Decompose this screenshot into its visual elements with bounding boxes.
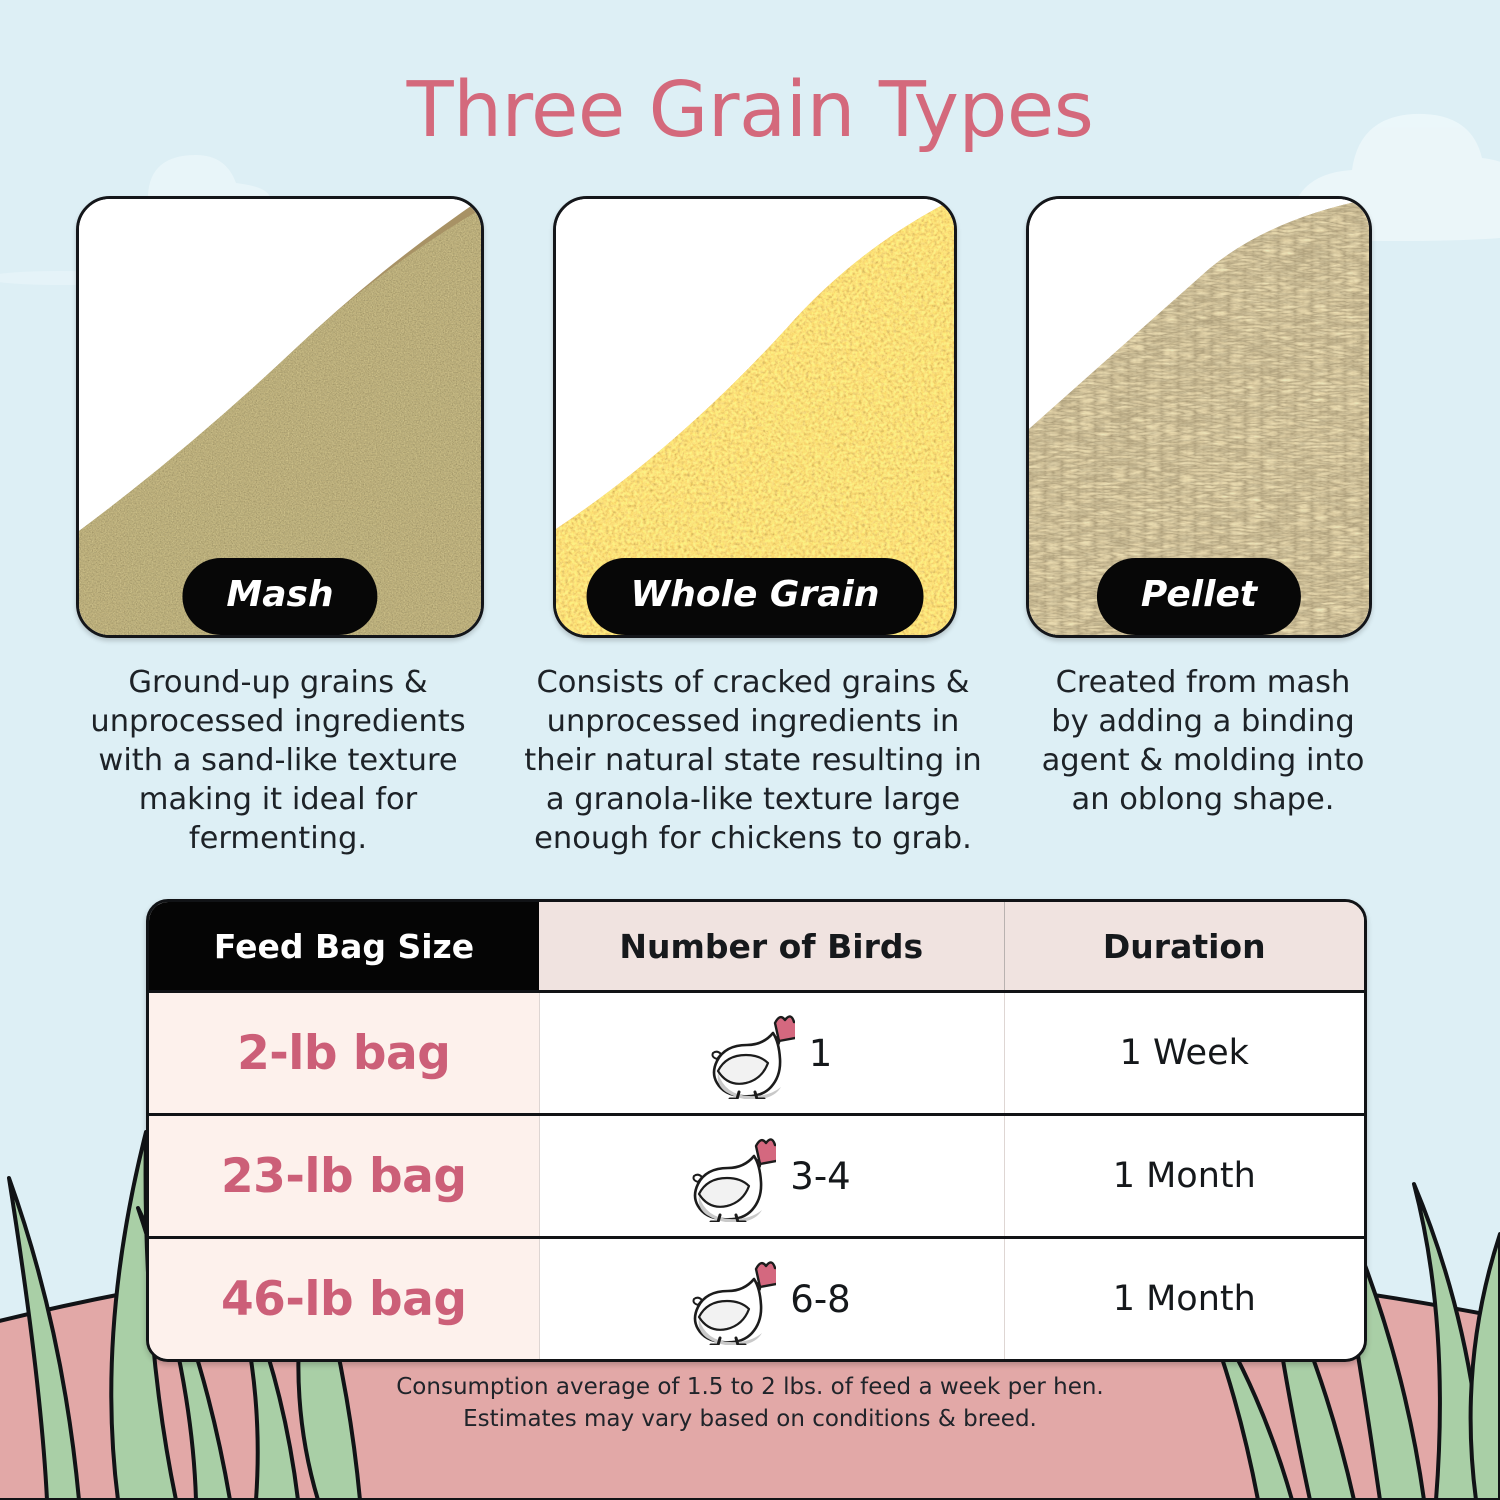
cell-duration: 1 Month bbox=[1004, 1115, 1364, 1238]
hen-icon bbox=[711, 1007, 795, 1099]
grain-description-pellet: Created from mash by adding a binding ag… bbox=[1033, 663, 1373, 819]
cell-number-of-birds: 3-4 bbox=[539, 1115, 1004, 1238]
footnote-line-2: Estimates may vary based on conditions &… bbox=[0, 1403, 1500, 1435]
bird-count: 6-8 bbox=[790, 1278, 850, 1321]
table-row: 23-lb bag 3-4 bbox=[149, 1115, 1364, 1238]
grain-description-mash: Ground-up grains & unprocessed ingredien… bbox=[72, 663, 484, 858]
page-title: Three Grain Types bbox=[0, 66, 1500, 155]
cell-feed-bag-size: 2-lb bag bbox=[149, 992, 539, 1115]
grain-card-label-whole-grain: Whole Grain bbox=[587, 558, 924, 635]
table-row: 46-lb bag 6-8 bbox=[149, 1238, 1364, 1360]
hen-icon bbox=[692, 1130, 776, 1222]
table-row: 2-lb bag 1 bbox=[149, 992, 1364, 1115]
cell-feed-bag-size: 46-lb bag bbox=[149, 1238, 539, 1360]
footnote: Consumption average of 1.5 to 2 lbs. of … bbox=[0, 1371, 1500, 1435]
footnote-line-1: Consumption average of 1.5 to 2 lbs. of … bbox=[0, 1371, 1500, 1403]
grain-card-label-mash: Mash bbox=[182, 558, 377, 635]
grain-description-whole-grain: Consists of cracked grains & unprocessed… bbox=[512, 663, 994, 858]
grain-card-pellet[interactable]: Pellet bbox=[1026, 196, 1372, 638]
cell-feed-bag-size: 23-lb bag bbox=[149, 1115, 539, 1238]
grain-card-label-pellet: Pellet bbox=[1097, 558, 1301, 635]
cell-number-of-birds: 1 bbox=[539, 992, 1004, 1115]
cell-duration: 1 Month bbox=[1004, 1238, 1364, 1360]
grain-card-mash[interactable]: Mash bbox=[76, 196, 484, 638]
grain-card-row: Mash Whole Grain bbox=[0, 196, 1500, 646]
feed-bag-table: Feed Bag Size Number of Birds Duration 2… bbox=[146, 899, 1367, 1362]
grain-card-whole-grain[interactable]: Whole Grain bbox=[553, 196, 957, 638]
hen-icon bbox=[692, 1253, 776, 1345]
cell-number-of-birds: 6-8 bbox=[539, 1238, 1004, 1360]
bird-count: 1 bbox=[809, 1032, 833, 1075]
infographic-canvas: Three Grain Types Mash bbox=[0, 0, 1500, 1500]
bird-count: 3-4 bbox=[790, 1155, 850, 1198]
column-header-number-of-birds: Number of Birds bbox=[539, 902, 1004, 992]
table-header-row: Feed Bag Size Number of Birds Duration bbox=[149, 902, 1364, 992]
column-header-feed-bag-size: Feed Bag Size bbox=[149, 902, 539, 992]
column-header-duration: Duration bbox=[1004, 902, 1364, 992]
cell-duration: 1 Week bbox=[1004, 992, 1364, 1115]
